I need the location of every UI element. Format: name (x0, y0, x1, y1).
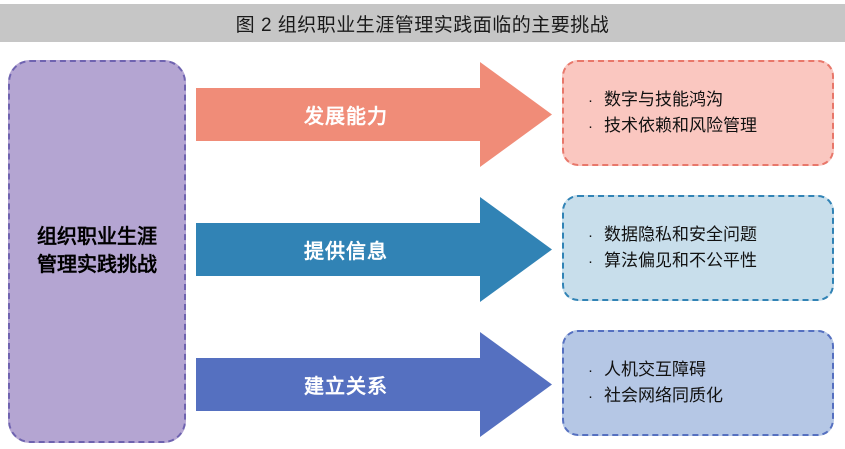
list-item-label: 数据隐私和安全问题 (604, 222, 757, 248)
arrow-develop-capability: 发展能力 (196, 62, 552, 167)
list-item: · 社会网络同质化 (588, 383, 723, 409)
bullet-icon: · (588, 115, 604, 138)
challenge-box-build-relationship: · 人机交互障碍 · 社会网络同质化 (562, 330, 834, 436)
challenge-box-develop-capability: · 数字与技能鸿沟 · 技术依赖和风险管理 (562, 60, 834, 166)
list-item-label: 算法偏见和不公平性 (604, 248, 757, 274)
bullet-icon: · (588, 359, 604, 382)
arrow-provide-information: 提供信息 (196, 197, 552, 302)
list-item: · 人机交互障碍 (588, 357, 706, 383)
list-item-label: 人机交互障碍 (604, 357, 706, 383)
arrow-shape-icon (196, 332, 552, 437)
arrow-shape-icon (196, 62, 552, 167)
bullet-icon: · (588, 250, 604, 273)
figure-title-bar: 图 2 组织职业生涯管理实践面临的主要挑战 (0, 4, 845, 42)
list-item: · 算法偏见和不公平性 (588, 248, 757, 274)
arrow-polygon-1 (196, 62, 552, 167)
challenge-box-provide-information: · 数据隐私和安全问题 · 算法偏见和不公平性 (562, 195, 834, 301)
list-item-label: 技术依赖和风险管理 (604, 113, 757, 139)
arrow-shape-icon (196, 197, 552, 302)
arrow-build-relationship: 建立关系 (196, 332, 552, 437)
bullet-icon: · (588, 89, 604, 112)
list-item: · 数字与技能鸿沟 (588, 87, 723, 113)
arrow-polygon-3 (196, 332, 552, 437)
bullet-icon: · (588, 224, 604, 247)
list-item: · 数据隐私和安全问题 (588, 222, 757, 248)
figure-canvas: 图 2 组织职业生涯管理实践面临的主要挑战 组织职业生涯管理实践挑战 发展能力 … (0, 0, 845, 449)
source-node-label: 组织职业生涯管理实践挑战 (31, 224, 163, 279)
arrow-polygon-2 (196, 197, 552, 302)
page-title: 图 2 组织职业生涯管理实践面临的主要挑战 (236, 10, 610, 37)
bullet-icon: · (588, 385, 604, 408)
list-item: · 技术依赖和风险管理 (588, 113, 757, 139)
list-item-label: 数字与技能鸿沟 (604, 87, 723, 113)
list-item-label: 社会网络同质化 (604, 383, 723, 409)
source-node: 组织职业生涯管理实践挑战 (8, 60, 186, 443)
